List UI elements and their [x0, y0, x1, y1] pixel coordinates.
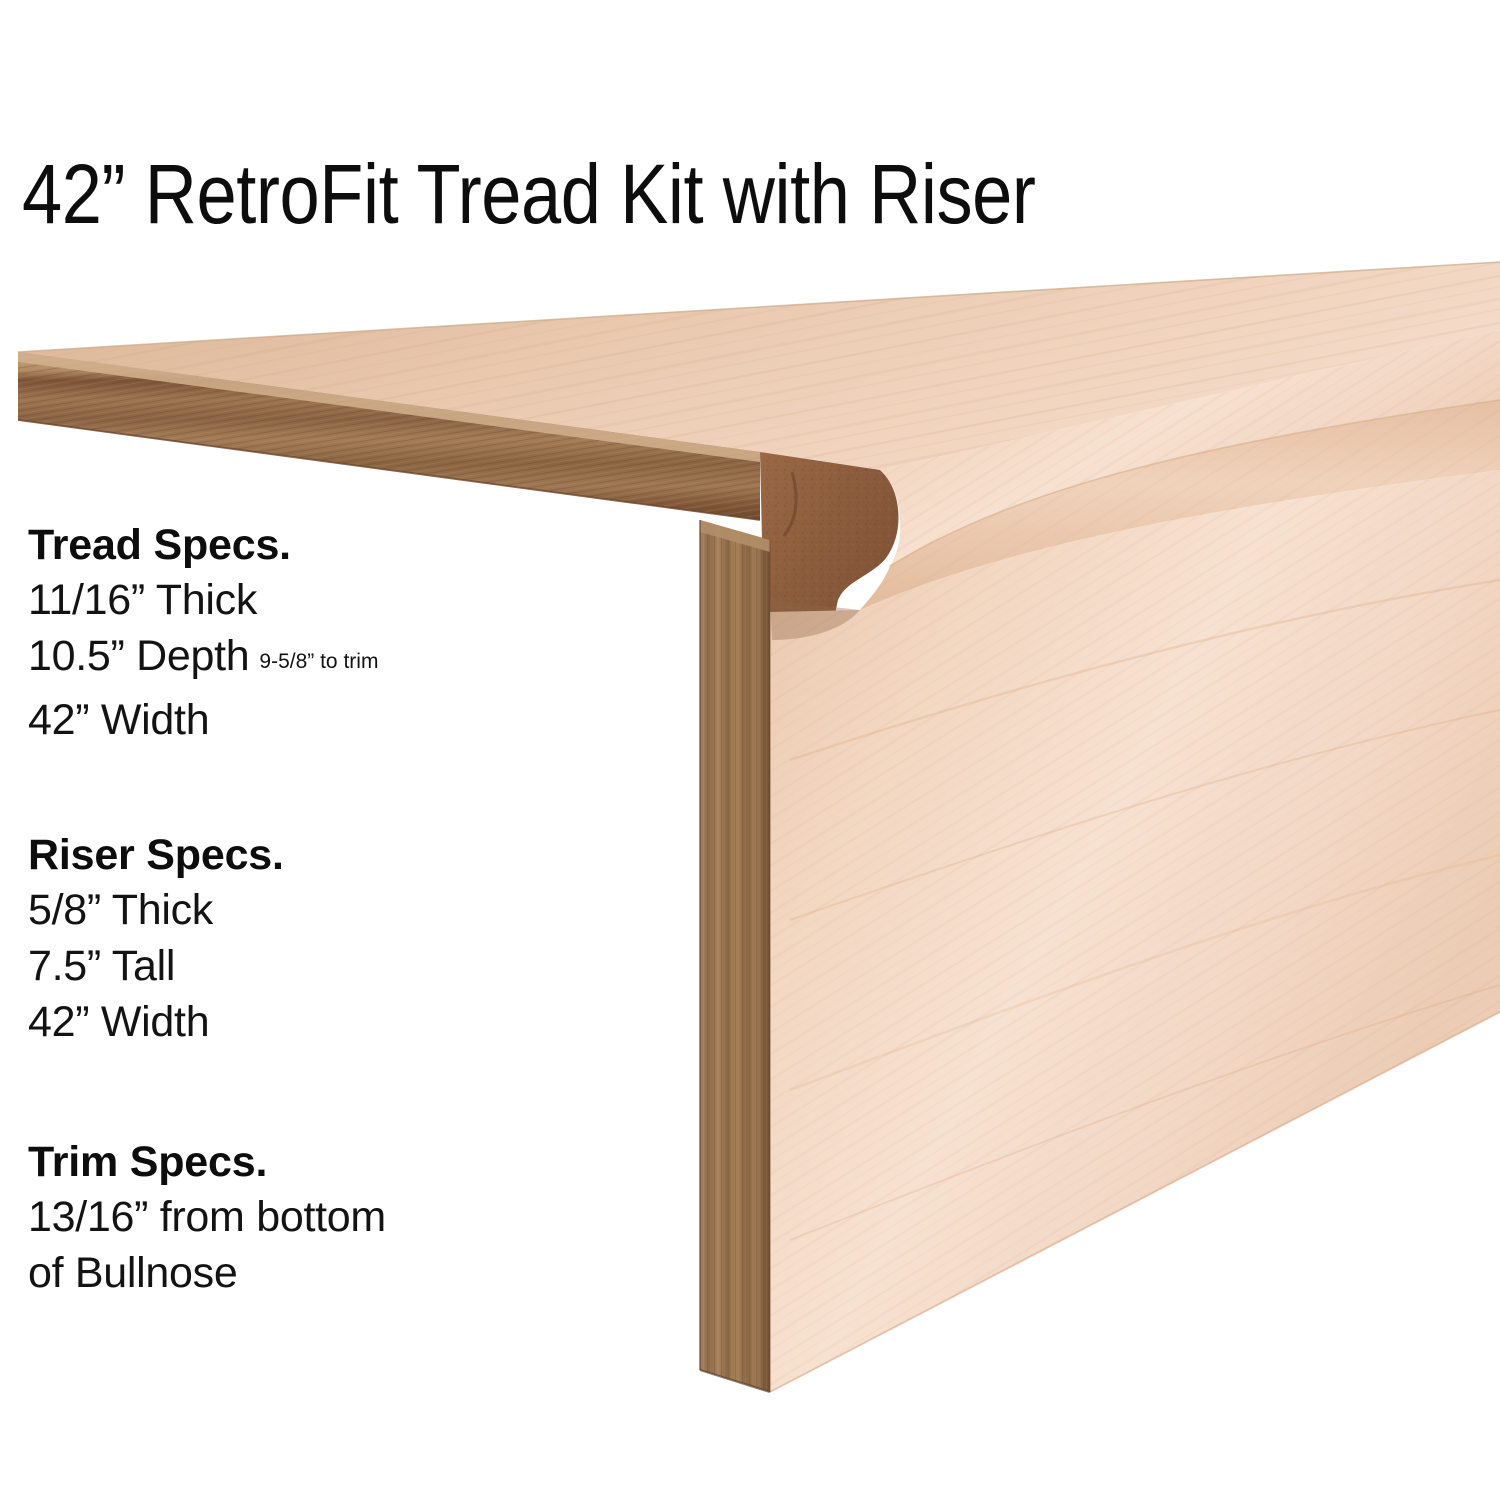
- tread-spec-thickness-text: 11/16” Thick: [28, 576, 257, 624]
- riser-spec-thickness: 5/8” Thick: [28, 882, 284, 938]
- trim-specs-heading: Trim Specs.: [28, 1135, 386, 1189]
- riser-spec-height: 7.5” Tall: [28, 938, 284, 994]
- riser-spec-thickness-text: 5/8” Thick: [28, 886, 213, 934]
- tread-spec-depth-text: 10.5” Depth: [28, 632, 249, 680]
- tread-spec-depth-note: 9-5/8” to trim: [259, 650, 378, 673]
- trim-specs-block: Trim Specs. 13/16” from bottom of Bullno…: [28, 1135, 386, 1301]
- riser-spec-width: 42” Width: [28, 994, 284, 1050]
- tread-spec-width-text: 42” Width: [28, 696, 209, 744]
- riser-left-edge-plywood: [700, 520, 770, 1392]
- trim-spec-line-2-text: of Bullnose: [28, 1249, 237, 1297]
- trim-spec-line-1-text: 13/16” from bottom: [28, 1193, 386, 1241]
- tread-spec-depth: 10.5” Depth9-5/8” to trim: [28, 628, 378, 692]
- page-title: 42” RetroFit Tread Kit with Riser: [22, 152, 1036, 236]
- trim-spec-line-2: of Bullnose: [28, 1245, 386, 1301]
- riser-specs-block: Riser Specs. 5/8” Thick 7.5” Tall 42” Wi…: [28, 828, 284, 1050]
- product-image-canvas: 42” RetroFit Tread Kit with Riser Tread …: [0, 0, 1500, 1500]
- trim-spec-line-1: 13/16” from bottom: [28, 1189, 386, 1245]
- tread-spec-width: 42” Width: [28, 692, 378, 748]
- riser-spec-height-text: 7.5” Tall: [28, 942, 175, 990]
- riser-specs-heading: Riser Specs.: [28, 828, 284, 882]
- tread-specs-heading: Tread Specs.: [28, 518, 378, 572]
- tread-spec-thickness: 11/16” Thick: [28, 572, 378, 628]
- riser-face: [770, 470, 1500, 1392]
- riser-spec-width-text: 42” Width: [28, 998, 209, 1046]
- tread-specs-block: Tread Specs. 11/16” Thick 10.5” Depth9-5…: [28, 518, 378, 748]
